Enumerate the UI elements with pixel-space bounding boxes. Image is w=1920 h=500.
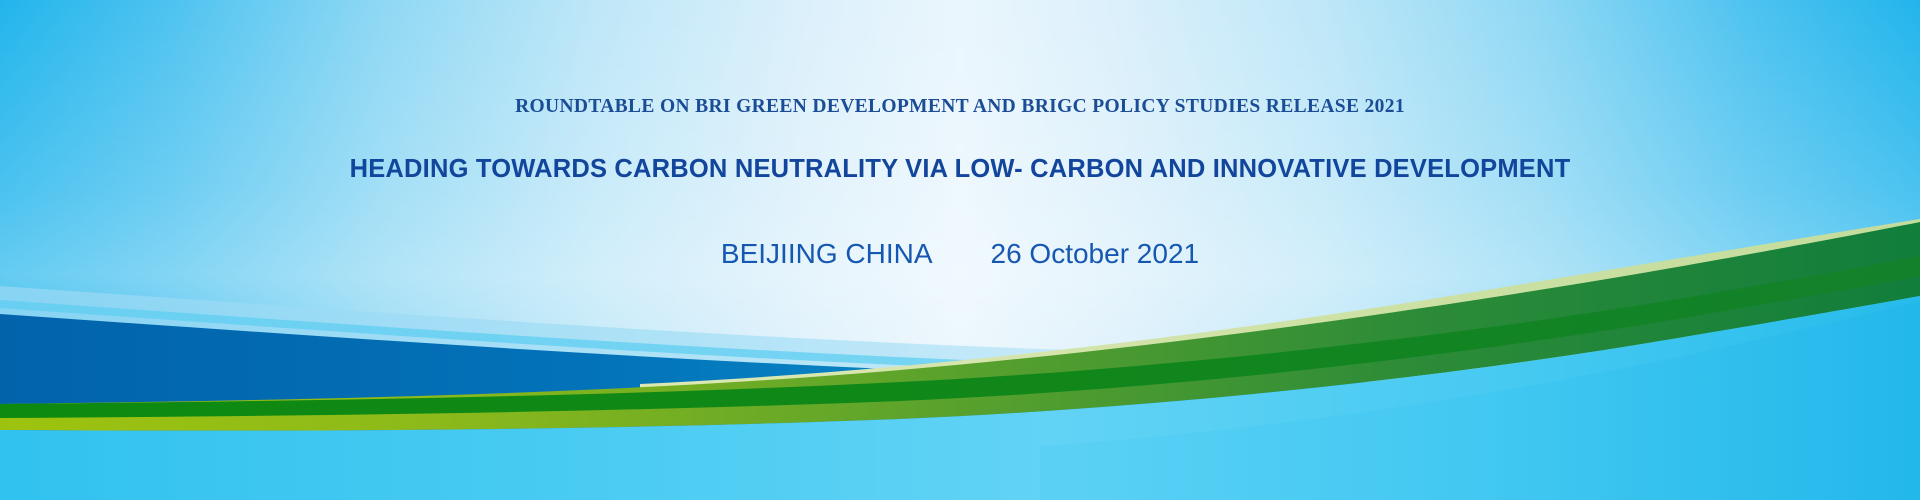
event-date: 26 October 2021 bbox=[991, 238, 1200, 269]
event-meta-line: BEIJIING CHINA26 October 2021 bbox=[0, 238, 1920, 270]
event-series-subtitle: ROUNDTABLE ON BRI GREEN DEVELOPMENT AND … bbox=[0, 96, 1920, 118]
event-location: BEIJIING CHINA bbox=[721, 238, 933, 269]
conference-banner: ROUNDTABLE ON BRI GREEN DEVELOPMENT AND … bbox=[0, 0, 1920, 500]
page-title: HEADING TOWARDS CARBON NEUTRALITY VIA LO… bbox=[0, 155, 1920, 184]
